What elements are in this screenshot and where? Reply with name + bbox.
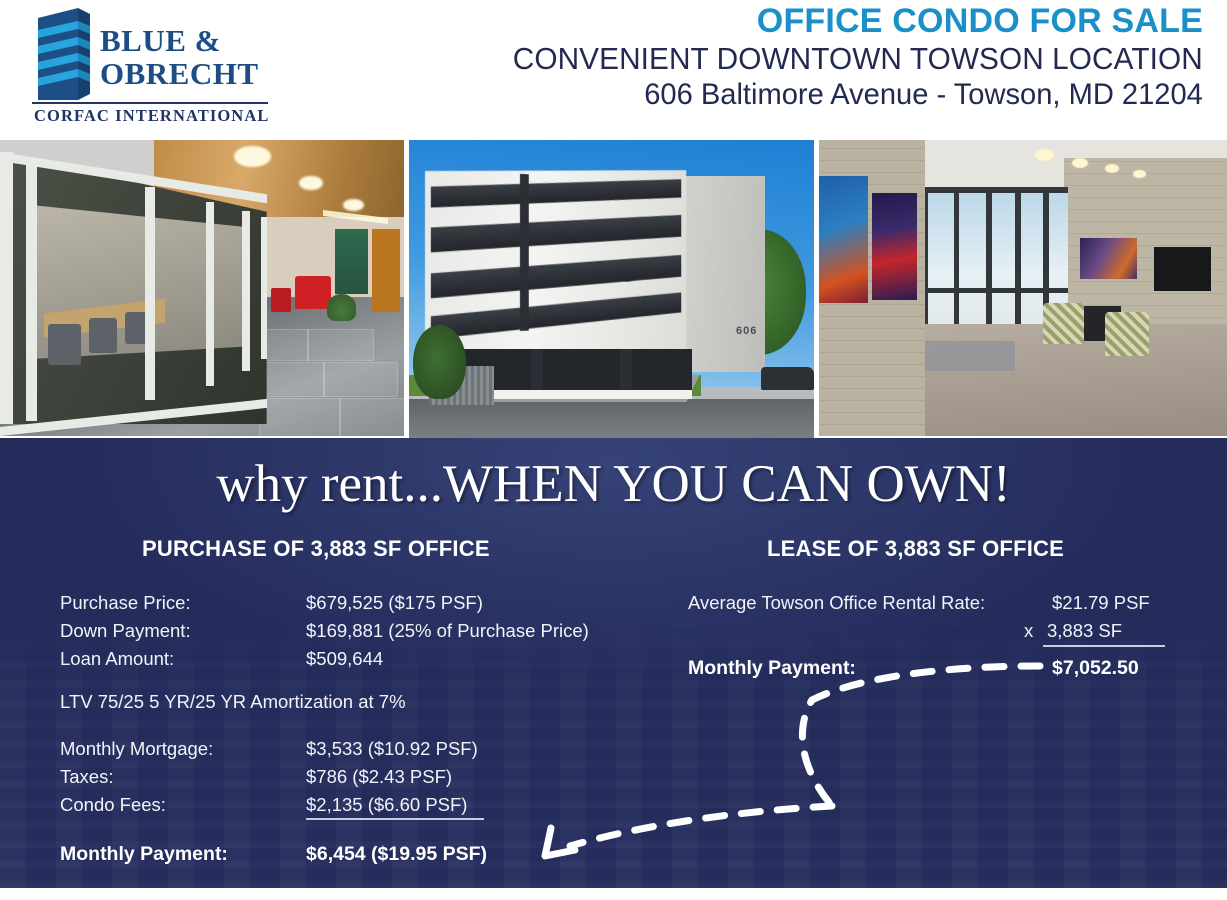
bottom-white-strip	[0, 888, 1227, 900]
logo-line-1: BLUE &	[100, 24, 270, 57]
purchase-subtotal-rule	[306, 818, 484, 820]
row-label: Taxes:	[60, 766, 113, 788]
row-label: Purchase Price:	[60, 592, 191, 614]
row-value: $169,881 (25% of Purchase Price)	[306, 620, 589, 642]
purchase-column-title: PURCHASE OF 3,883 SF OFFICE	[142, 536, 490, 562]
lease-rate-label: Average Towson Office Rental Rate:	[688, 592, 985, 614]
flyer-page: BLUE & OBRECHT CORFAC INTERNATIONAL OFFI…	[0, 0, 1227, 900]
header-text-block: OFFICE CONDO FOR SALE CONVENIENT DOWNTOW…	[484, 2, 1203, 113]
row-value: $3,533 ($10.92 PSF)	[306, 738, 478, 760]
headline-strong: WHEN YOU CAN OWN!	[443, 455, 1011, 513]
logo-divider	[32, 102, 268, 104]
row-value: $2,135 ($6.60 PSF)	[306, 794, 467, 816]
row-label: Monthly Payment:	[60, 843, 228, 866]
lease-multiplier-symbol: x	[1024, 620, 1033, 642]
row-value: $6,454 ($19.95 PSF)	[306, 843, 487, 866]
header: BLUE & OBRECHT CORFAC INTERNATIONAL OFFI…	[0, 0, 1227, 140]
headline-soft: why rent...	[216, 455, 443, 513]
purchase-loan-terms: LTV 75/25 5 YR/25 YR Amortization at 7%	[60, 691, 406, 713]
photo-office-corridor-conference-room	[0, 140, 404, 436]
row-value: $786 ($2.43 PSF)	[306, 766, 452, 788]
company-logo: BLUE & OBRECHT CORFAC INTERNATIONAL	[28, 6, 268, 128]
row-label: Monthly Mortgage:	[60, 738, 213, 760]
row-label: Condo Fees:	[60, 794, 166, 816]
header-address: 606 Baltimore Avenue - Towson, MD 21204	[506, 77, 1203, 113]
lease-column-title: LEASE OF 3,883 SF OFFICE	[767, 536, 1064, 562]
row-value: $509,644	[306, 648, 383, 670]
photo-lobby-interior	[819, 140, 1227, 436]
lease-subtotal-rule	[1043, 645, 1165, 647]
logo-wordmark: BLUE & OBRECHT	[100, 24, 270, 90]
lease-rate-value: $21.79 PSF	[1052, 592, 1150, 614]
photo-strip: 606	[0, 140, 1227, 438]
lease-monthly-payment-value: $7,052.50	[1052, 657, 1139, 680]
row-label: Loan Amount:	[60, 648, 174, 670]
photo-building-exterior-606: 606	[409, 140, 814, 438]
row-label: Down Payment:	[60, 620, 191, 642]
lease-area-value: 3,883 SF	[1047, 620, 1122, 642]
logo-subtitle: CORFAC INTERNATIONAL	[34, 106, 274, 126]
header-subtitle: CONVENIENT DOWNTOWN TOWSON LOCATION	[513, 40, 1203, 77]
page-title: OFFICE CONDO FOR SALE	[484, 2, 1203, 40]
row-value: $679,525 ($175 PSF)	[306, 592, 483, 614]
building-logo-icon	[32, 8, 94, 100]
lease-monthly-payment-label: Monthly Payment:	[688, 657, 856, 680]
building-number-signage: 606	[736, 325, 757, 337]
logo-line-2: OBRECHT	[100, 57, 270, 90]
panel-headline: why rent...WHEN YOU CAN OWN!	[0, 455, 1227, 513]
